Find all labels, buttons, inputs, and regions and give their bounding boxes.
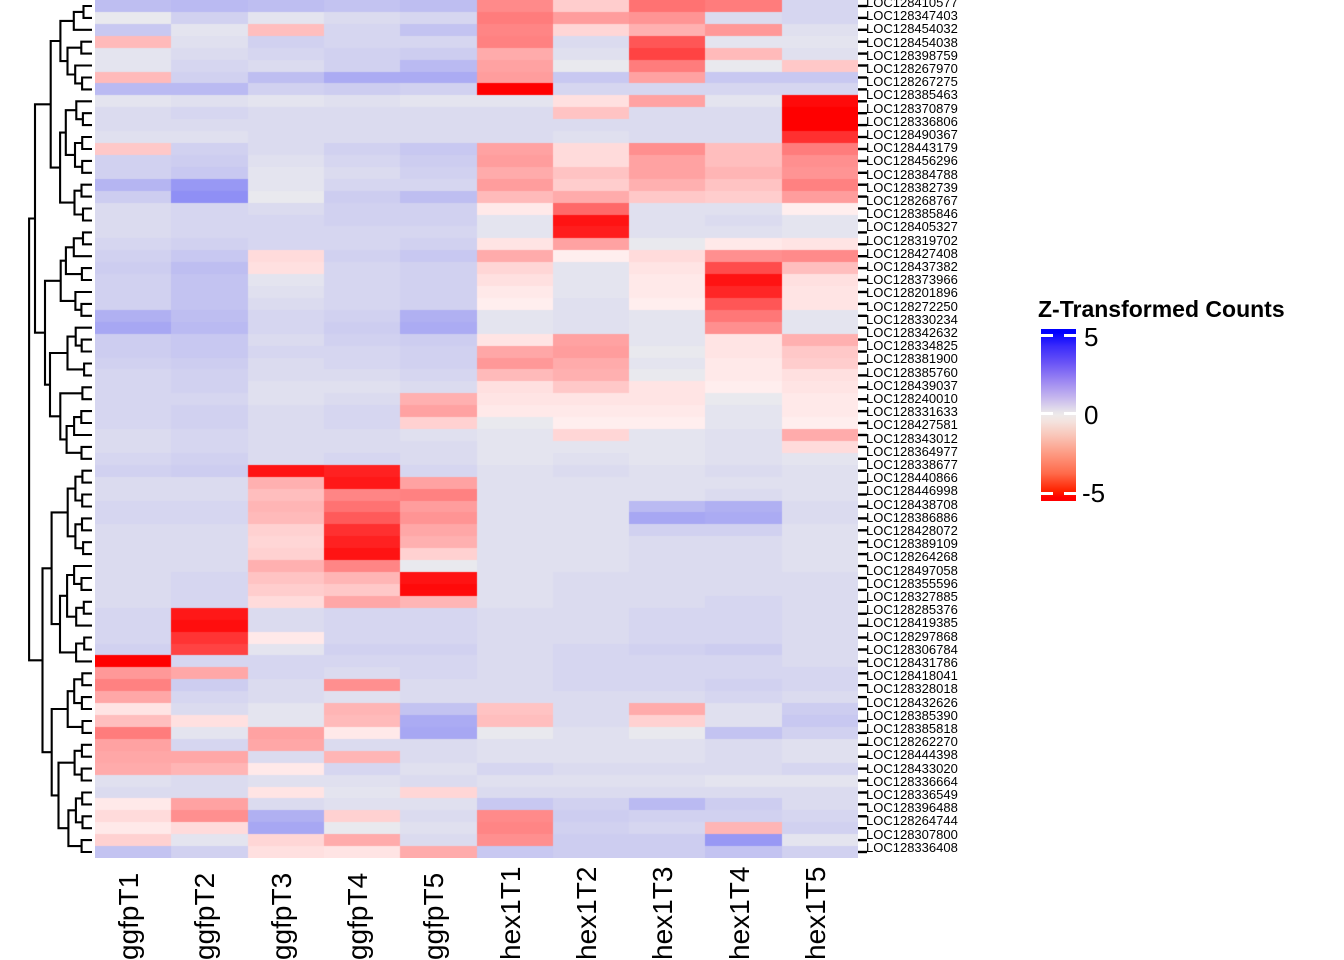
row-label: LOC128385390	[866, 710, 958, 721]
row-label: LOC128385846	[866, 208, 958, 219]
row-label: LOC128364977	[866, 446, 958, 457]
row-label: LOC128264744	[866, 815, 958, 826]
row-label: LOC128264268	[866, 551, 958, 562]
colorbar-label-5: 5	[1084, 322, 1098, 353]
row-label: LOC128490367	[866, 129, 958, 140]
row-label: LOC128342632	[866, 327, 958, 338]
row-label: LOC128370879	[866, 103, 958, 114]
row-label: LOC128427408	[866, 248, 958, 259]
row-label: LOC128240010	[866, 393, 958, 404]
row-label: LOC128272250	[866, 301, 958, 312]
column-label-text: ggfpT3	[266, 873, 298, 960]
row-label: LOC128297868	[866, 631, 958, 642]
row-label: LOC128405327	[866, 221, 958, 232]
row-label: LOC128355596	[866, 578, 958, 589]
row-label: LOC128347403	[866, 10, 958, 21]
colorbar-gradient	[1041, 329, 1076, 501]
row-label: LOC128343012	[866, 433, 958, 444]
colorbar-tick-low	[1041, 492, 1053, 495]
colorbar-title: Z-Transformed Counts	[1038, 296, 1285, 323]
column-label-nhex1T3: hex1T3	[629, 858, 705, 960]
colorbar-tick-high	[1041, 334, 1053, 337]
row-label: LOC128201896	[866, 287, 958, 298]
row-label: LOC128336549	[866, 789, 958, 800]
row-label: LOC128306784	[866, 644, 958, 655]
column-label-ggfpT1: ggfpT1	[95, 858, 171, 960]
row-label: LOC128454038	[866, 37, 958, 48]
row-label: LOC128454032	[866, 23, 958, 34]
row-label: LOC128331633	[866, 406, 958, 417]
row-label: LOC128432626	[866, 697, 958, 708]
row-label: LOC128438708	[866, 499, 958, 510]
row-label: LOC128319702	[866, 235, 958, 246]
row-label: LOC128330234	[866, 314, 958, 325]
row-label: LOC128396488	[866, 802, 958, 813]
row-label: LOC128385463	[866, 89, 958, 100]
row-label: LOC128427581	[866, 419, 958, 430]
row-label: LOC128336664	[866, 776, 958, 787]
colorbar-tick-high-right	[1064, 334, 1076, 337]
row-label: LOC128328018	[866, 683, 958, 694]
column-label-text: ggfpT2	[189, 873, 221, 960]
column-label-text: ggfpT4	[342, 873, 374, 960]
row-label: LOC128285376	[866, 604, 958, 615]
heatmap-figure: LOC128410577LOC128347403LOC128454032LOC1…	[0, 0, 1344, 960]
row-label: LOC128385818	[866, 723, 958, 734]
column-label-nhex1T1: hex1T1	[477, 858, 553, 960]
column-label-ggfpT2: ggfpT2	[171, 858, 247, 960]
colorbar-legend: Z-Transformed Counts 5 0 -5	[1038, 296, 1338, 512]
row-label: LOC128268767	[866, 195, 958, 206]
row-label: LOC128433020	[866, 763, 958, 774]
column-label-text: ggfpT1	[113, 873, 145, 960]
row-label: LOC128373966	[866, 274, 958, 285]
row-label: LOC128336408	[866, 842, 958, 853]
row-label: LOC128418041	[866, 670, 958, 681]
row-label: LOC128440866	[866, 472, 958, 483]
row-label: LOC128497058	[866, 565, 958, 576]
column-label-text: hex1T2	[571, 867, 603, 960]
colorbar-tick-mid	[1041, 412, 1053, 415]
row-label: LOC128443179	[866, 142, 958, 153]
column-label-ggfpT5: ggfpT5	[400, 858, 476, 960]
row-label: LOC128398759	[866, 50, 958, 61]
colorbar-label-0: 0	[1084, 400, 1098, 431]
row-label: LOC128446998	[866, 485, 958, 496]
row-label: LOC128419385	[866, 617, 958, 628]
row-label: LOC128410577	[866, 0, 958, 8]
column-label-text: hex1T1	[494, 867, 526, 960]
row-label: LOC128389109	[866, 538, 958, 549]
column-axis-labels: ggfpT1ggfpT2ggfpT3ggfpT4ggfpT5hex1T1hex1…	[95, 858, 858, 960]
row-label: LOC128384788	[866, 169, 958, 180]
row-label: LOC128334825	[866, 340, 958, 351]
row-label: LOC128386886	[866, 512, 958, 523]
row-label: LOC128327885	[866, 591, 958, 602]
row-label: LOC128428072	[866, 525, 958, 536]
colorbar-label-neg5: -5	[1082, 478, 1105, 509]
column-label-text: hex1T5	[800, 867, 832, 960]
column-label-nhex1T2: hex1T2	[553, 858, 629, 960]
heatmap-canvas[interactable]	[95, 0, 858, 858]
row-dendrogram	[0, 0, 95, 858]
row-label: LOC128262270	[866, 736, 958, 747]
row-label: LOC128336806	[866, 116, 958, 127]
row-label: LOC128267970	[866, 63, 958, 74]
row-label: LOC128385760	[866, 367, 958, 378]
column-label-text: hex1T4	[723, 867, 755, 960]
row-label: LOC128439037	[866, 380, 958, 391]
row-label: LOC128382739	[866, 182, 958, 193]
column-label-ggfpT3: ggfpT3	[248, 858, 324, 960]
colorbar-tick-low-right	[1064, 492, 1076, 495]
heatmap-matrix[interactable]	[95, 0, 858, 858]
row-label: LOC128431786	[866, 657, 958, 668]
row-label: LOC128381900	[866, 353, 958, 364]
row-label: LOC128307800	[866, 829, 958, 840]
row-label: LOC128456296	[866, 155, 958, 166]
row-axis-labels: LOC128410577LOC128347403LOC128454032LOC1…	[866, 0, 1041, 860]
column-label-nhex1T5: hex1T5	[782, 858, 858, 960]
column-label-text: ggfpT5	[418, 873, 450, 960]
column-label-nhex1T4: hex1T4	[705, 858, 781, 960]
row-label: LOC128338677	[866, 459, 958, 470]
row-label: LOC128267275	[866, 76, 958, 87]
column-label-ggfpT4: ggfpT4	[324, 858, 400, 960]
column-label-text: hex1T3	[647, 867, 679, 960]
colorbar-tick-mid-right	[1064, 412, 1076, 415]
row-label: LOC128444398	[866, 749, 958, 760]
row-label: LOC128437382	[866, 261, 958, 272]
